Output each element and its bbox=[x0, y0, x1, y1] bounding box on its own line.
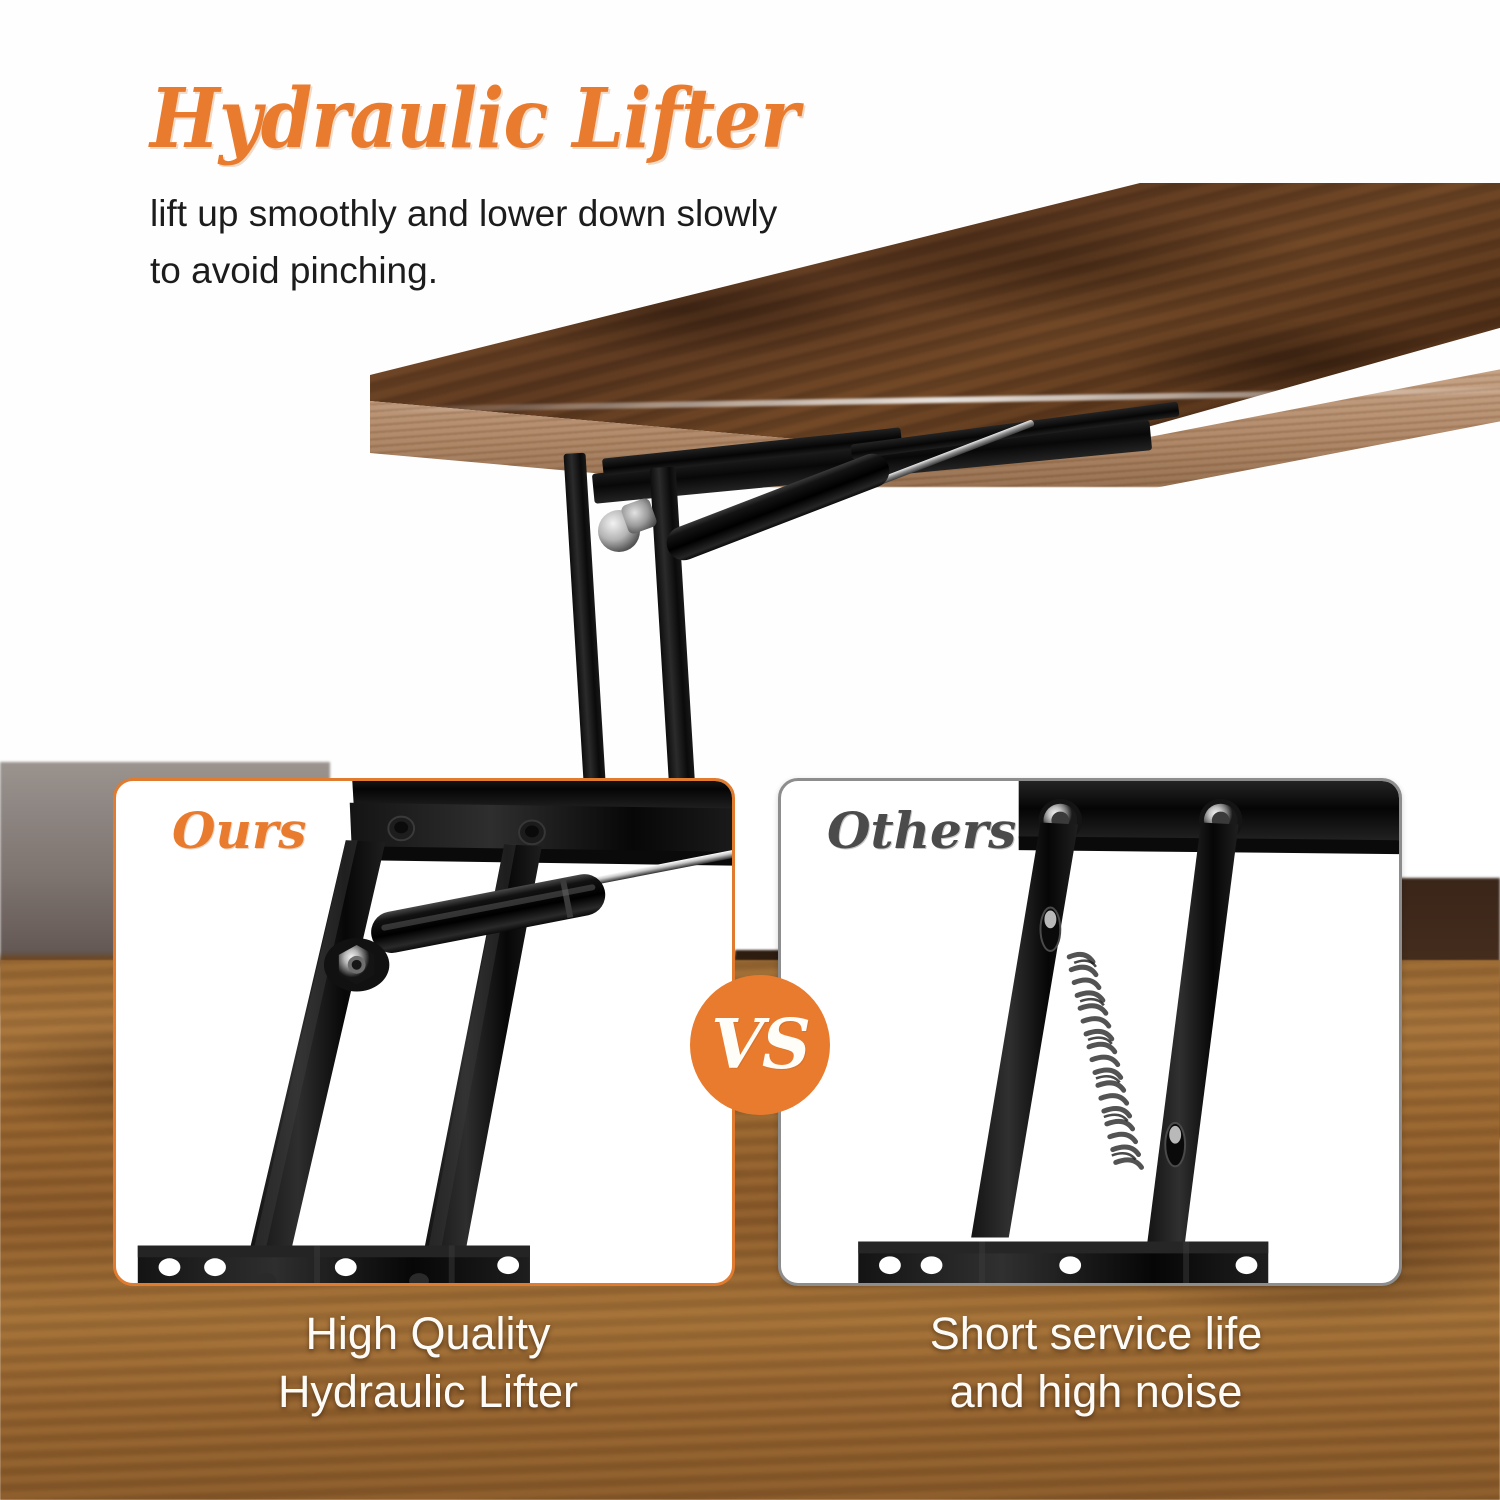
comparison-panel-ours[interactable]: Ours bbox=[113, 778, 735, 1286]
others-badge-label: Others bbox=[827, 806, 1016, 856]
coil-spring-icon bbox=[1069, 954, 1141, 1167]
ours-badge-label: Ours bbox=[172, 806, 306, 856]
others-caption: Short service life and high noise bbox=[796, 1305, 1396, 1420]
mounting-plate-icon bbox=[138, 1245, 530, 1283]
others-caption-line2: and high noise bbox=[796, 1363, 1396, 1421]
lifter-arm-front bbox=[563, 453, 606, 799]
ours-caption-line1: High Quality bbox=[128, 1305, 728, 1363]
ours-top-mounting-bar bbox=[350, 781, 732, 866]
comparison-panel-others[interactable]: Others bbox=[778, 778, 1402, 1286]
others-caption-line1: Short service life bbox=[796, 1305, 1396, 1363]
ours-caption-line2: Hydraulic Lifter bbox=[128, 1363, 728, 1421]
coil-spring-shade bbox=[1074, 961, 1135, 1160]
vs-label: VS bbox=[711, 1011, 809, 1079]
hero-lift-top-table bbox=[330, 175, 1500, 775]
others-mounting-plate-icon bbox=[858, 1241, 1268, 1283]
ours-caption: High Quality Hydraulic Lifter bbox=[128, 1305, 728, 1420]
vs-badge: VS bbox=[690, 975, 830, 1115]
hinge-bolt-icon bbox=[324, 938, 389, 991]
others-lifter-arm-left bbox=[971, 823, 1078, 1238]
ours-lifter-arm-front bbox=[251, 840, 386, 1245]
page-title: Hydraulic Lifter bbox=[150, 78, 798, 160]
product-marketing-image: Hydraulic Lifter lift up smoothly and lo… bbox=[0, 0, 1500, 1500]
others-lifter-arm-right bbox=[1147, 823, 1238, 1242]
lifter-arm-rear bbox=[650, 467, 697, 808]
